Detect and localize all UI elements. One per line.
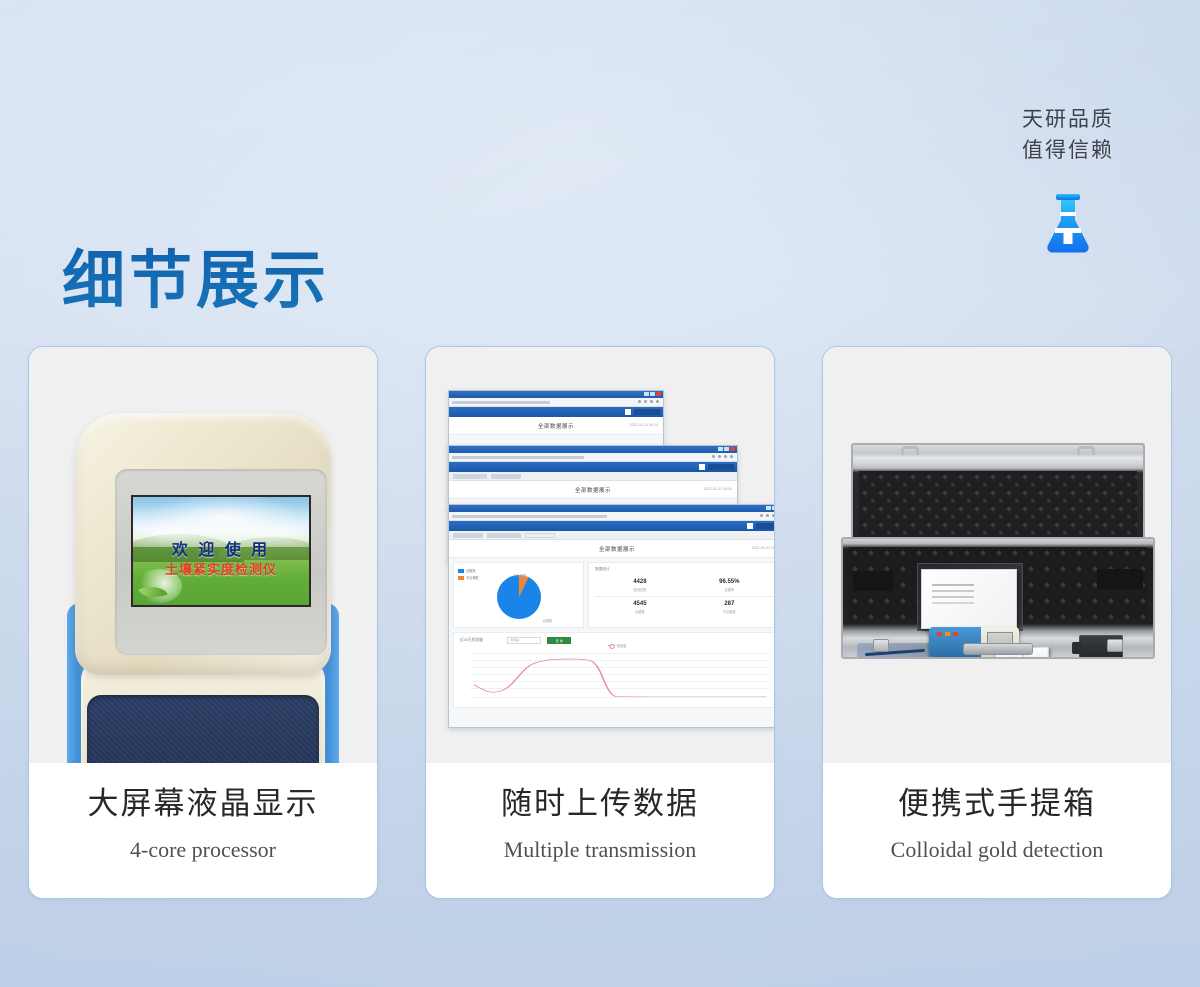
lcd-welcome-text: 欢 迎 使 用	[133, 536, 309, 560]
feature-card-upload[interactable]: 全部数据展示2021-01-21 09:24	[425, 346, 775, 899]
dashboard-content: 合格数 不合格数 不合格数 合格数	[449, 558, 774, 712]
window-titlebar	[449, 505, 774, 512]
feature-cards: 欢 迎 使 用 土壤紧实度检测仪 大屏幕液晶显示 4-core processo…	[28, 346, 1172, 899]
pie-chart-panel: 合格数 不合格数 不合格数 合格数	[453, 562, 584, 628]
line-chart-panel: 近30天检测量 时间段 查 询 检测量	[453, 632, 774, 708]
app-header-square	[699, 464, 705, 470]
legend-label-fail: 不合格数	[466, 575, 479, 580]
window-body: 全部数据展示2021-01-21 09:24 合格数	[449, 540, 774, 727]
brand-line-1: 天研品质	[978, 104, 1158, 135]
pie-legend: 合格数 不合格数	[458, 568, 479, 582]
stat-value: 4545	[595, 601, 684, 607]
case-carry-handle[interactable]	[963, 643, 1033, 655]
app-header-user[interactable]	[708, 464, 734, 470]
chart-title: 近30天检测量	[460, 638, 483, 643]
legend-label: 检测量	[617, 643, 627, 648]
card-caption: 便携式手提箱 Colloidal gold detection	[823, 763, 1171, 898]
toolbar-icons	[712, 455, 733, 458]
chart-legend: 检测量	[608, 643, 627, 648]
stat-value: 4428	[595, 579, 684, 585]
stats-grid: 4428 检测总数 96.55% 合格率 4545	[595, 575, 774, 618]
app-header-bar	[449, 462, 737, 472]
pie-callout-pass: 合格数	[543, 618, 553, 623]
stats-panel-title: 数据统计	[595, 567, 774, 572]
aluminum-case	[841, 433, 1155, 668]
dashboard-title: 全部数据展示2021-01-21 09:24	[449, 481, 737, 499]
dashboard-timestamp: 2021-01-21 09:24	[752, 546, 774, 550]
page-title-line1: 细节展示	[62, 244, 330, 318]
pie-legend-item-pass: 合格数	[458, 568, 479, 573]
case-hinge-right	[1077, 446, 1095, 455]
lcd-product-name: 土壤紧实度检测仪	[133, 559, 309, 578]
dashboard-title: 全部数据展示2021-01-21 09:24	[449, 417, 663, 435]
case-hinge-left	[901, 446, 919, 455]
address-bar[interactable]	[449, 398, 663, 407]
case-latch-left[interactable]	[873, 639, 889, 652]
stat-label: 检测总数	[595, 587, 684, 592]
legend-swatch-blue	[458, 569, 464, 573]
window-titlebar	[449, 391, 663, 398]
device-keypad-panel	[87, 695, 319, 763]
software-screenshot: 全部数据展示2021-01-21 09:24	[426, 347, 774, 763]
card-title-en: 4-core processor	[130, 836, 276, 864]
dashboard-title: 全部数据展示2021-01-21 09:24	[449, 540, 774, 558]
flask-icon	[978, 192, 1158, 254]
user-manual	[921, 569, 1017, 629]
stat-card: 4545 合格数	[595, 597, 684, 618]
feature-card-case[interactable]: 便携式手提箱 Colloidal gold detection	[822, 346, 1172, 899]
card-title-en: Colloidal gold detection	[891, 836, 1104, 864]
pie-legend-item-fail: 不合格数	[458, 575, 479, 580]
window-controls[interactable]	[766, 506, 774, 510]
dashboard-top-row: 合格数 不合格数 不合格数 合格数	[453, 562, 774, 628]
device-lcd-screen: 欢 迎 使 用 土壤紧实度检测仪	[131, 495, 311, 607]
case-base	[841, 537, 1155, 659]
chart-query-button[interactable]: 查 询	[547, 637, 571, 644]
app-header-user[interactable]	[756, 523, 774, 529]
axis-x	[470, 697, 770, 698]
stat-label: 不合格数	[685, 609, 774, 614]
stat-value: 287	[685, 601, 774, 607]
card-caption: 随时上传数据 Multiple transmission	[426, 763, 774, 898]
card-title-cn: 大屏幕液晶显示	[88, 784, 319, 824]
legend-swatch-orange	[458, 576, 464, 580]
stat-value: 96.55%	[685, 579, 774, 585]
carrying-case-photo	[823, 347, 1171, 763]
app-header-square	[747, 523, 753, 529]
pie-chart	[497, 575, 541, 619]
browser-window-stack: 全部数据展示2021-01-21 09:24	[426, 347, 774, 763]
app-header-user[interactable]	[634, 409, 660, 415]
device-bezel: 欢 迎 使 用 土壤紧实度检测仪	[115, 469, 327, 655]
brand-line-2: 值得信赖	[978, 135, 1158, 166]
chart-plot-area	[470, 653, 770, 697]
device-upper-housing: 欢 迎 使 用 土壤紧实度检测仪	[75, 413, 331, 675]
stat-label: 合格数	[595, 609, 684, 614]
card-title-cn: 便携式手提箱	[898, 784, 1096, 824]
toolbar-icons	[638, 400, 659, 403]
app-header-bar	[449, 407, 663, 417]
brand-block: 天研品质 值得信赖	[978, 104, 1158, 254]
stats-panel: 数据统计 4428 检测总数 96.55% 合格率	[588, 562, 774, 628]
browser-window-front[interactable]: 全部数据展示2021-01-21 09:24 合格数	[448, 504, 774, 728]
card-caption: 大屏幕液晶显示 4-core processor	[29, 763, 377, 898]
card-title-en: Multiple transmission	[504, 836, 697, 864]
window-controls[interactable]	[644, 392, 661, 396]
stat-card: 287 不合格数	[685, 597, 774, 618]
foam-block	[853, 571, 893, 591]
pie-callout-fail: 不合格数	[513, 573, 526, 578]
address-bar[interactable]	[449, 453, 737, 462]
stat-card: 4428 检测总数	[595, 575, 684, 597]
legend-label-pass: 合格数	[466, 568, 476, 573]
dashboard-timestamp: 2021-01-21 09:24	[704, 487, 732, 491]
app-header-square	[625, 409, 631, 415]
chart-series-line	[470, 653, 770, 697]
address-bar[interactable]	[449, 512, 774, 521]
stat-card: 96.55% 合格率	[685, 575, 774, 597]
legend-line-swatch	[608, 645, 615, 646]
feature-card-display[interactable]: 欢 迎 使 用 土壤紧实度检测仪 大屏幕液晶显示 4-core processo…	[28, 346, 378, 899]
lid-foam	[859, 471, 1137, 547]
chart-date-input[interactable]: 时间段	[507, 637, 541, 644]
dashboard-timestamp: 2021-01-21 09:24	[630, 423, 658, 427]
tab-strip[interactable]	[449, 472, 737, 481]
handheld-meter: 欢 迎 使 用 土壤紧实度检测仪	[53, 405, 353, 763]
device-photo: 欢 迎 使 用 土壤紧实度检测仪	[29, 347, 377, 763]
window-controls[interactable]	[718, 447, 735, 451]
case-latch-right[interactable]	[1107, 639, 1123, 652]
tab-strip[interactable]	[449, 531, 774, 540]
toolbar-icons	[760, 514, 774, 517]
app-header-bar	[449, 521, 774, 531]
window-titlebar	[449, 446, 737, 453]
adapter-plug	[1072, 642, 1082, 654]
stat-label: 合格率	[685, 587, 774, 592]
card-title-cn: 随时上传数据	[501, 784, 699, 824]
meter-buttons	[937, 632, 958, 636]
foam-block	[1097, 569, 1143, 589]
